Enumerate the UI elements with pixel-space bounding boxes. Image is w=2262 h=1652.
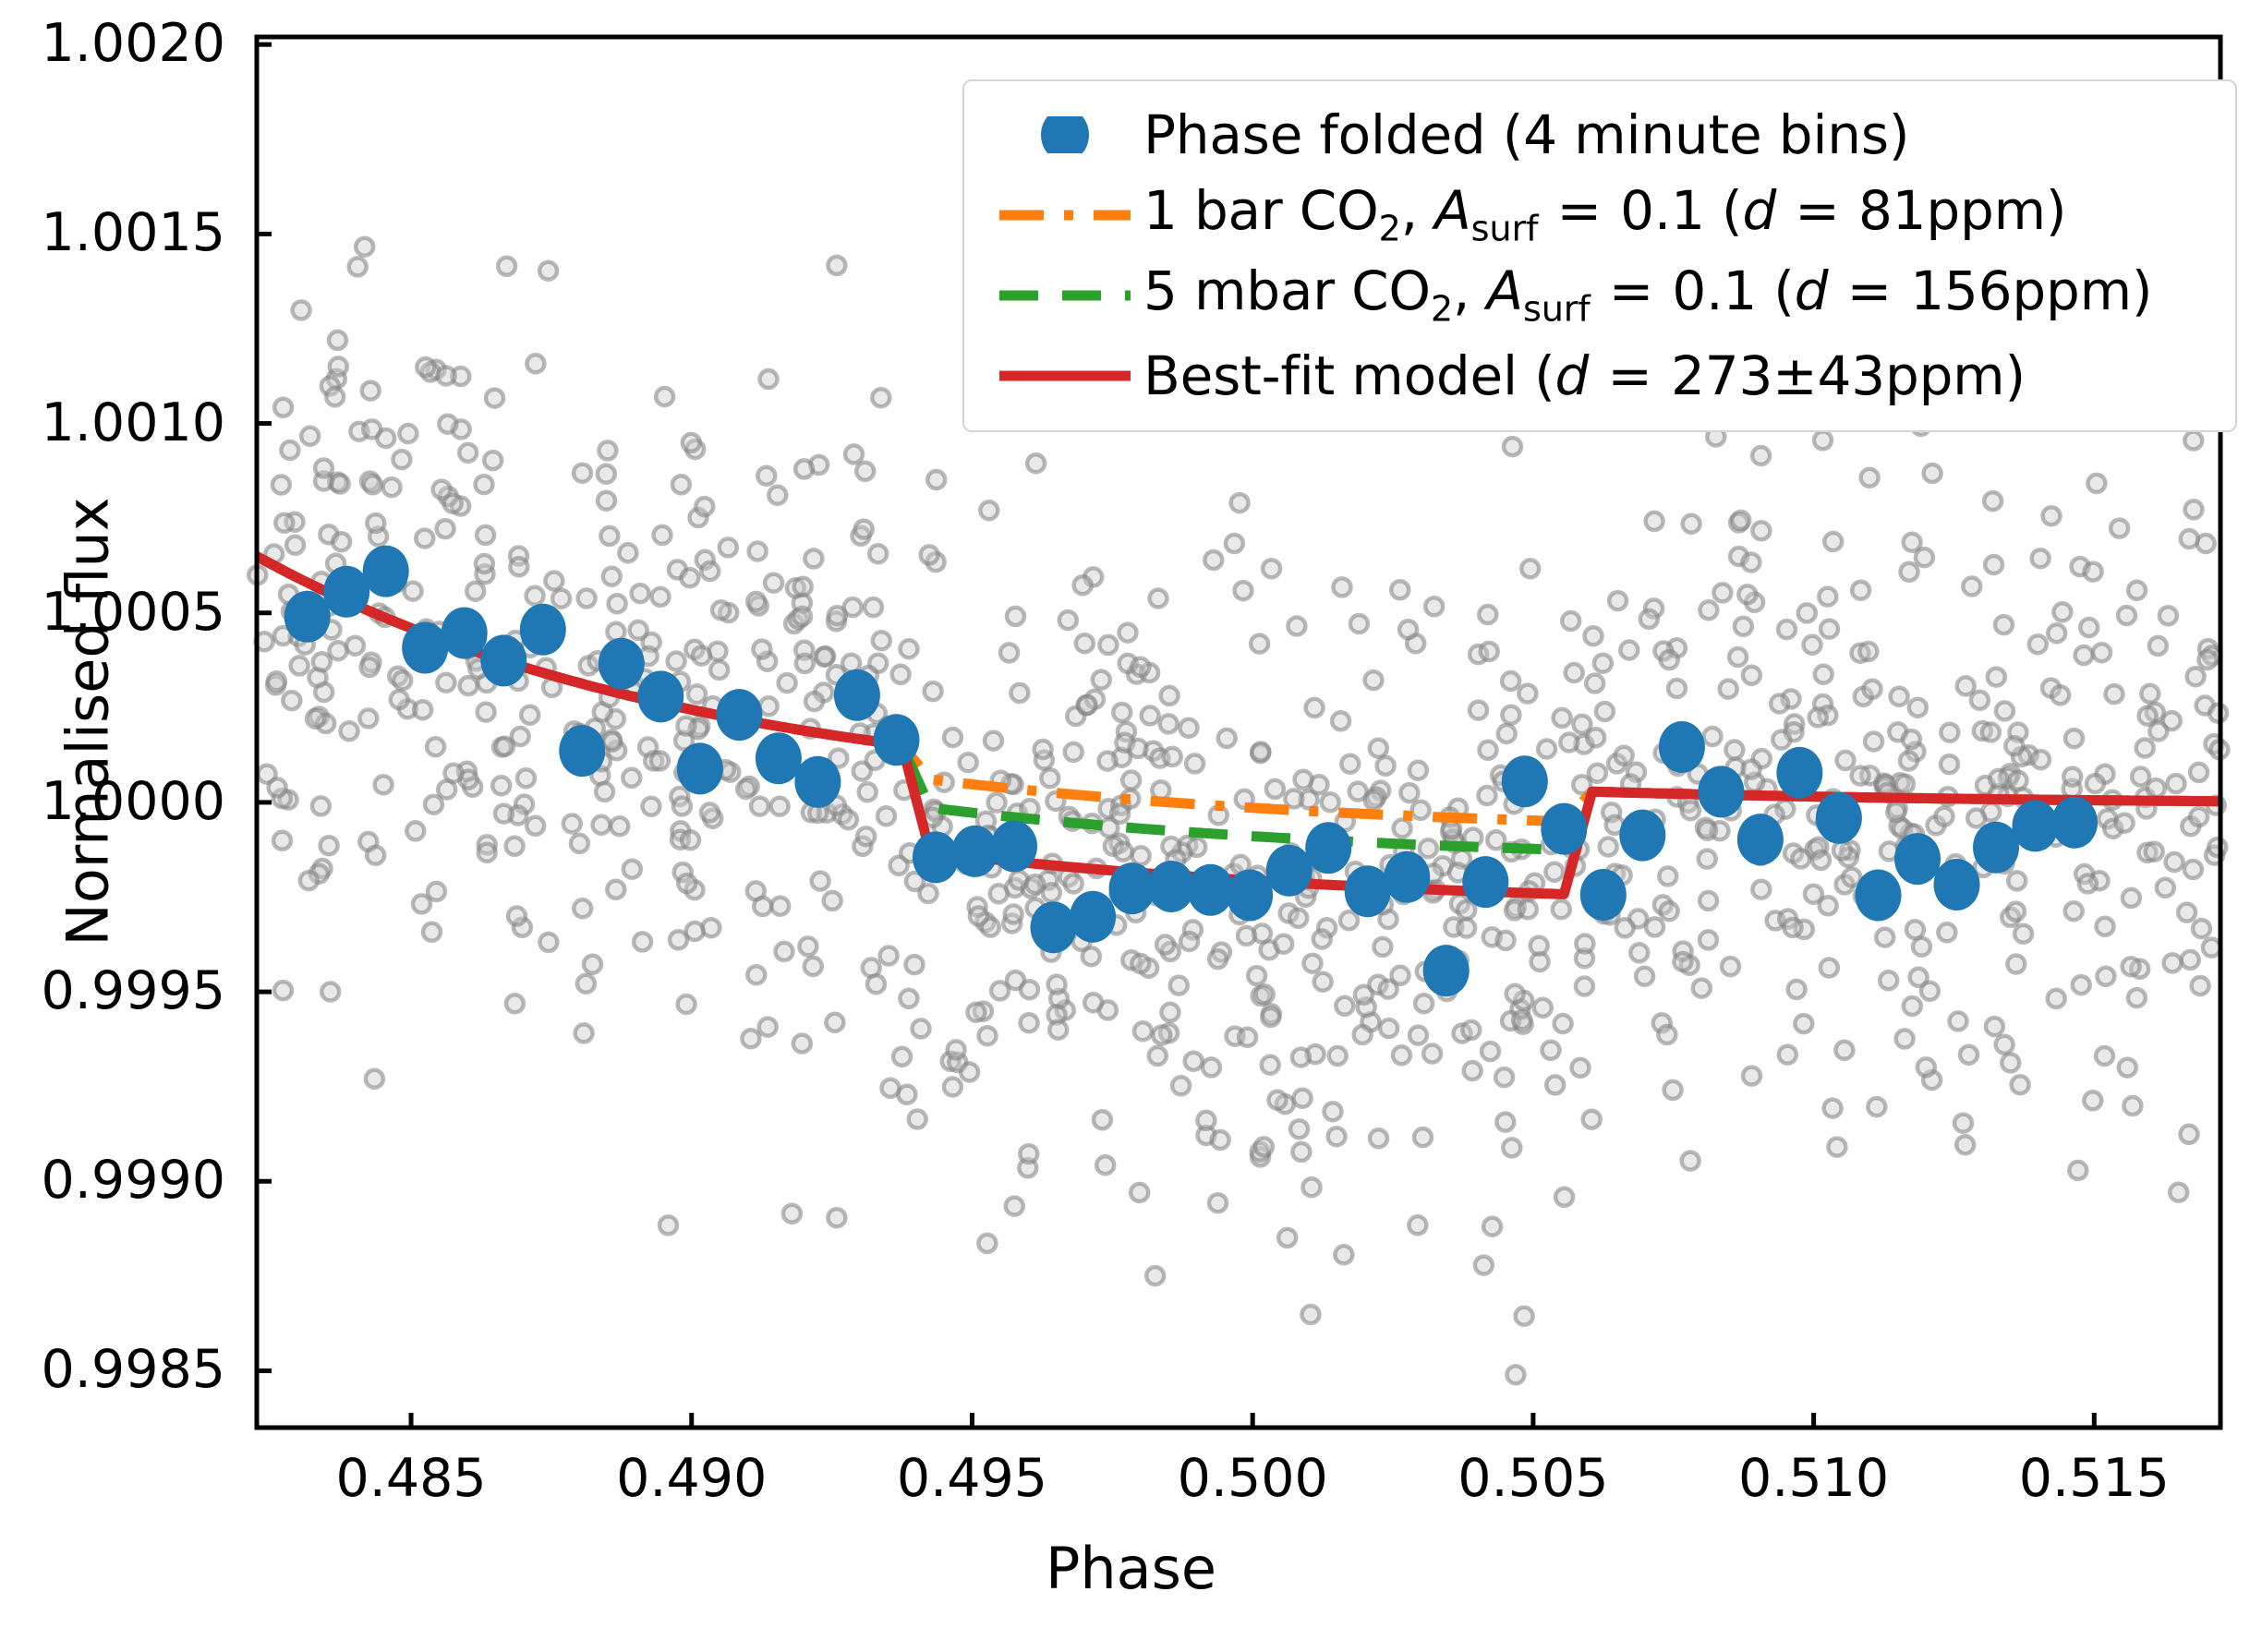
binned-data-point xyxy=(756,732,802,784)
raw-data-point xyxy=(1149,1047,1167,1065)
raw-data-point xyxy=(1502,706,1519,724)
raw-data-point xyxy=(737,780,755,798)
binned-data-point xyxy=(284,591,331,643)
raw-data-point xyxy=(1294,1090,1312,1107)
raw-data-point xyxy=(478,844,496,862)
raw-data-point xyxy=(1328,1127,1346,1145)
raw-data-point xyxy=(272,476,290,494)
raw-data-point xyxy=(1682,1152,1700,1170)
raw-data-point xyxy=(1616,919,1634,936)
binned-data-point xyxy=(913,831,959,883)
raw-data-point xyxy=(1065,743,1083,761)
raw-data-point xyxy=(1887,803,1905,821)
raw-data-point xyxy=(1496,1114,1514,1131)
raw-data-point xyxy=(478,704,495,721)
raw-data-point xyxy=(1099,753,1117,770)
raw-data-point xyxy=(1336,997,1353,1015)
raw-data-point xyxy=(1566,664,1583,681)
raw-data-point xyxy=(1738,585,1756,603)
raw-data-point xyxy=(2012,1076,2029,1093)
legend-entry: Best-fit model (d = 273±43ppm) xyxy=(986,335,2213,416)
binned-data-point xyxy=(1619,810,1665,862)
raw-data-point xyxy=(1562,612,1579,630)
raw-data-point xyxy=(1996,702,2014,719)
y-axis-label-text: Normalised flux xyxy=(54,497,122,946)
raw-data-point xyxy=(1788,981,1806,998)
raw-data-point xyxy=(771,898,789,915)
raw-data-point xyxy=(1266,780,1284,798)
raw-data-point xyxy=(1006,1198,1023,1215)
raw-data-point xyxy=(362,382,380,400)
raw-data-point xyxy=(783,1205,801,1223)
raw-data-point xyxy=(359,709,377,727)
raw-data-point xyxy=(1896,776,1914,793)
raw-data-point xyxy=(1674,953,1691,971)
raw-data-point xyxy=(2085,563,2102,581)
raw-data-point xyxy=(283,692,300,709)
raw-data-point xyxy=(1470,702,1487,719)
legend-label: 5 mbar CO2, Asurf = 0.1 (d = 156ppm) xyxy=(1143,259,2152,331)
raw-data-point xyxy=(1020,1145,1037,1163)
raw-data-point xyxy=(1409,1027,1427,1044)
raw-data-point xyxy=(584,956,601,973)
raw-data-point xyxy=(274,399,292,416)
raw-data-point xyxy=(329,332,346,349)
raw-data-point xyxy=(1010,684,1028,702)
raw-data-point xyxy=(970,908,987,925)
raw-data-point xyxy=(414,701,431,718)
raw-data-point xyxy=(2106,685,2123,703)
raw-data-point xyxy=(1292,1143,1310,1161)
raw-data-point xyxy=(1161,687,1179,705)
raw-data-point xyxy=(979,1027,997,1044)
raw-data-point xyxy=(1814,431,1832,449)
raw-data-point xyxy=(1263,560,1280,577)
raw-data-point xyxy=(1049,1021,1067,1039)
raw-data-point xyxy=(349,258,367,275)
raw-data-point xyxy=(2146,843,2163,861)
binned-data-point xyxy=(794,756,841,808)
raw-data-point xyxy=(2182,951,2199,969)
raw-data-point xyxy=(476,476,493,493)
raw-data-point xyxy=(944,729,962,746)
x-tick-label: 0.495 xyxy=(824,1448,1119,1509)
raw-data-point xyxy=(417,358,434,376)
raw-data-point xyxy=(2164,954,2182,971)
raw-data-point xyxy=(2097,918,2114,935)
raw-data-point xyxy=(681,569,698,586)
raw-data-point xyxy=(2008,872,2026,889)
raw-data-point xyxy=(2032,549,2050,567)
raw-data-point xyxy=(393,451,410,468)
binned-data-point xyxy=(1345,865,1391,917)
raw-data-point xyxy=(828,257,845,274)
raw-data-point xyxy=(693,647,710,665)
raw-data-point xyxy=(603,568,621,585)
raw-data-point xyxy=(539,262,557,280)
raw-data-point xyxy=(1971,692,1989,709)
legend-key xyxy=(986,197,1143,234)
raw-data-point xyxy=(2048,624,2065,642)
raw-data-point xyxy=(1170,977,1188,995)
raw-data-point xyxy=(2190,808,2208,826)
raw-data-point xyxy=(1021,1014,1038,1031)
raw-data-point xyxy=(2119,1059,2136,1077)
raw-data-point xyxy=(855,521,873,538)
raw-data-point xyxy=(1186,754,1204,772)
raw-data-point xyxy=(1203,1058,1220,1076)
raw-data-point xyxy=(2190,764,2208,781)
raw-data-point xyxy=(1256,985,1274,1003)
raw-data-point xyxy=(804,549,822,567)
raw-data-point xyxy=(1156,936,1174,954)
dashed-line-key xyxy=(996,277,1134,314)
raw-data-point xyxy=(779,674,796,692)
raw-data-point xyxy=(2157,879,2174,897)
raw-data-point xyxy=(399,425,417,442)
legend-key xyxy=(986,116,1143,153)
raw-data-point xyxy=(672,476,690,493)
raw-data-point xyxy=(1576,935,1593,953)
raw-data-point xyxy=(1824,1100,1842,1117)
raw-data-point xyxy=(2170,1184,2187,1201)
raw-data-point xyxy=(2075,646,2093,664)
raw-data-point xyxy=(571,835,588,852)
raw-data-point xyxy=(643,798,660,815)
raw-data-point xyxy=(1909,699,1927,717)
raw-data-point xyxy=(574,899,591,917)
raw-data-point xyxy=(439,416,456,433)
raw-data-point xyxy=(1115,843,1132,861)
binned-data-point xyxy=(1031,901,1077,953)
raw-data-point xyxy=(710,661,728,679)
raw-data-point xyxy=(652,588,670,606)
raw-data-point xyxy=(978,1235,996,1252)
raw-data-point xyxy=(1828,1139,1845,1156)
raw-data-point xyxy=(742,1030,759,1047)
raw-data-point xyxy=(1180,933,1198,950)
raw-data-point xyxy=(1399,621,1417,638)
binned-data-point xyxy=(1188,864,1234,916)
raw-data-point xyxy=(754,898,771,915)
raw-data-point xyxy=(712,601,730,619)
legend-label: Best-fit model (d = 273±43ppm) xyxy=(1143,344,2026,407)
raw-data-point xyxy=(1248,967,1265,984)
raw-data-point xyxy=(1475,1257,1493,1274)
raw-data-point xyxy=(321,983,339,1001)
binned-data-point xyxy=(1580,869,1627,921)
raw-data-point xyxy=(678,995,696,1013)
raw-data-point xyxy=(1982,724,2000,742)
raw-data-point xyxy=(1093,671,1110,689)
binned-data-point xyxy=(1148,861,1194,912)
y-axis-label: Normalised flux xyxy=(54,353,122,1091)
raw-data-point xyxy=(1792,850,1809,868)
binned-data-point xyxy=(1737,814,1784,865)
raw-data-point xyxy=(768,487,786,504)
raw-data-point xyxy=(609,595,626,612)
raw-data-point xyxy=(484,452,502,469)
raw-data-point xyxy=(1742,554,1760,572)
raw-data-point xyxy=(1725,742,1743,759)
raw-data-point xyxy=(1482,1043,1499,1060)
binned-data-point xyxy=(520,604,566,656)
raw-data-point xyxy=(1074,576,1092,594)
raw-data-point xyxy=(1859,643,1877,660)
raw-data-point xyxy=(2136,740,2154,757)
raw-data-point xyxy=(757,467,775,485)
raw-data-point xyxy=(659,1216,677,1234)
raw-data-point xyxy=(654,526,671,544)
raw-data-point xyxy=(578,589,596,607)
raw-data-point xyxy=(1554,1015,1572,1032)
raw-data-point xyxy=(1819,588,1836,606)
raw-data-point xyxy=(2053,603,2071,621)
y-tick-label: 1.0020 xyxy=(0,13,225,74)
raw-data-point xyxy=(1700,931,1717,948)
raw-data-point xyxy=(1218,730,1236,747)
raw-data-point xyxy=(925,682,942,700)
raw-data-point xyxy=(1409,762,1427,779)
raw-data-point xyxy=(526,817,544,835)
raw-data-point xyxy=(346,637,364,655)
raw-data-point xyxy=(2051,686,2069,704)
raw-data-point xyxy=(1146,1267,1164,1284)
raw-data-point xyxy=(598,465,615,483)
legend-key xyxy=(986,277,1143,314)
raw-data-point xyxy=(1251,635,1268,653)
raw-data-point xyxy=(1304,955,1322,972)
raw-data-point xyxy=(872,389,889,406)
raw-data-point xyxy=(2079,874,2097,892)
raw-data-point xyxy=(869,545,887,562)
raw-data-point xyxy=(1295,771,1312,789)
raw-data-point xyxy=(1180,719,1198,737)
raw-data-point xyxy=(1306,699,1324,717)
raw-data-point xyxy=(273,832,291,850)
raw-data-point xyxy=(1812,851,1830,869)
raw-data-point xyxy=(1668,680,1686,697)
legend-entry: 1 bar CO2, Asurf = 0.1 (d = 81ppm) xyxy=(986,175,2213,255)
raw-data-point xyxy=(2014,925,2032,943)
raw-data-point xyxy=(596,783,613,801)
binned-data-point xyxy=(834,669,880,721)
raw-data-point xyxy=(1936,808,1954,826)
raw-data-point xyxy=(1864,681,1881,698)
raw-data-point xyxy=(944,1079,962,1096)
raw-data-point xyxy=(619,544,636,561)
raw-data-point xyxy=(1835,1042,1853,1059)
raw-data-point xyxy=(599,441,616,459)
raw-data-point xyxy=(367,514,384,532)
raw-data-point xyxy=(1904,997,1921,1015)
raw-data-point xyxy=(301,428,319,445)
raw-data-point xyxy=(1784,919,1802,936)
raw-data-point xyxy=(1837,752,1855,769)
raw-data-point xyxy=(682,831,699,849)
raw-data-point xyxy=(880,947,898,965)
raw-data-point xyxy=(701,562,719,580)
raw-data-point xyxy=(1735,618,1752,635)
binned-data-point xyxy=(559,725,605,777)
raw-data-point xyxy=(1941,755,1958,773)
raw-data-point xyxy=(1891,688,1908,705)
raw-data-point xyxy=(2199,651,2217,669)
raw-data-point xyxy=(1479,787,1496,804)
raw-data-point xyxy=(1661,902,1678,920)
raw-data-point xyxy=(890,857,908,874)
raw-data-point xyxy=(1986,1018,2003,1035)
raw-data-point xyxy=(1752,447,1770,464)
raw-data-point xyxy=(492,777,510,794)
raw-data-point xyxy=(1996,1036,2014,1054)
raw-data-point xyxy=(1906,921,1924,938)
raw-data-point xyxy=(1094,1111,1111,1128)
raw-data-point xyxy=(1380,1019,1397,1037)
raw-data-point xyxy=(1704,728,1722,745)
raw-data-point xyxy=(332,476,349,493)
raw-data-point xyxy=(1504,438,1521,455)
raw-data-point xyxy=(804,958,822,975)
binned-data-point xyxy=(1384,851,1430,903)
raw-data-point xyxy=(574,464,591,482)
raw-data-point xyxy=(1209,950,1227,968)
raw-data-point xyxy=(799,937,816,955)
raw-data-point xyxy=(630,621,647,639)
raw-data-point xyxy=(927,471,945,488)
raw-data-point xyxy=(1370,740,1387,757)
raw-data-point xyxy=(1503,1139,1520,1156)
binned-data-point xyxy=(1698,766,1744,817)
raw-data-point xyxy=(826,1014,843,1031)
raw-data-point xyxy=(2149,637,2167,655)
raw-data-point xyxy=(1099,636,1117,654)
raw-data-point xyxy=(1479,606,1496,623)
raw-data-point xyxy=(753,641,770,658)
raw-data-point xyxy=(2118,607,2135,624)
raw-data-point xyxy=(1289,910,1307,927)
raw-data-point xyxy=(2029,635,2047,653)
raw-data-point xyxy=(2187,668,2205,685)
raw-data-point xyxy=(865,598,882,616)
raw-data-point xyxy=(1852,582,1869,599)
raw-data-point xyxy=(1239,1029,1256,1046)
raw-data-point xyxy=(805,693,823,710)
raw-data-point xyxy=(575,1024,593,1042)
raw-data-point xyxy=(281,441,298,459)
raw-data-point xyxy=(341,722,358,740)
raw-data-point xyxy=(393,671,411,689)
raw-data-point xyxy=(1820,959,1838,977)
raw-data-point xyxy=(2203,939,2220,957)
raw-data-point xyxy=(985,732,1002,750)
raw-data-point xyxy=(1576,978,1593,995)
raw-data-point xyxy=(607,881,624,898)
raw-data-point xyxy=(1880,971,1897,989)
raw-data-point xyxy=(1954,1115,1972,1132)
raw-data-point xyxy=(1545,863,1563,881)
binned-data-point xyxy=(2051,797,2098,849)
raw-data-point xyxy=(375,776,393,793)
raw-data-point xyxy=(1153,1026,1170,1043)
raw-data-point xyxy=(1530,937,1548,955)
binned-data-point xyxy=(599,638,645,690)
raw-data-point xyxy=(882,1079,900,1097)
raw-data-point xyxy=(1373,938,1391,956)
raw-data-point xyxy=(840,811,857,828)
raw-data-point xyxy=(668,653,685,670)
raw-data-point xyxy=(1620,642,1638,659)
legend-box: Phase folded (4 minute bins)1 bar CO2, A… xyxy=(962,79,2237,432)
raw-data-point xyxy=(623,769,640,787)
raw-data-point xyxy=(1005,906,1022,923)
binned-data-point xyxy=(1894,833,1941,885)
raw-data-point xyxy=(1995,616,2013,633)
raw-data-point xyxy=(1560,734,1578,752)
raw-data-point xyxy=(1415,995,1433,1012)
raw-data-point xyxy=(1209,1194,1227,1212)
raw-data-point xyxy=(2139,707,2157,725)
raw-data-point xyxy=(1988,669,2005,686)
raw-data-point xyxy=(1659,867,1676,885)
raw-data-point xyxy=(1594,655,1612,672)
solid-line-key xyxy=(996,357,1134,394)
raw-data-point xyxy=(1722,958,1739,975)
raw-data-point xyxy=(1065,874,1083,892)
raw-data-point xyxy=(433,481,451,499)
raw-data-point xyxy=(793,608,811,625)
raw-data-point xyxy=(1131,955,1149,972)
raw-data-point xyxy=(2065,902,2083,920)
raw-data-point xyxy=(794,578,812,596)
raw-data-point xyxy=(1519,900,1537,918)
raw-data-point xyxy=(1425,597,1443,615)
raw-data-point xyxy=(437,674,454,692)
binned-data-point xyxy=(323,566,369,618)
raw-data-point xyxy=(1288,618,1305,635)
raw-data-point xyxy=(1341,755,1359,773)
raw-data-point xyxy=(600,527,618,545)
raw-data-point xyxy=(466,583,484,600)
raw-data-point xyxy=(1967,810,1985,827)
raw-data-point xyxy=(765,574,782,592)
raw-data-point xyxy=(1142,706,1159,724)
raw-data-point xyxy=(2116,814,2134,832)
raw-data-point xyxy=(1699,850,1716,868)
raw-data-point xyxy=(406,822,424,839)
raw-data-point xyxy=(1394,820,1411,838)
raw-data-point xyxy=(2084,1091,2101,1109)
raw-data-point xyxy=(795,460,813,477)
raw-data-point xyxy=(793,1035,811,1053)
raw-data-point xyxy=(1771,695,1788,713)
raw-data-point xyxy=(2123,958,2140,975)
raw-data-point xyxy=(747,593,765,610)
raw-data-point xyxy=(333,533,350,550)
raw-data-point xyxy=(1255,1138,1273,1155)
raw-data-point xyxy=(460,677,478,694)
raw-data-point xyxy=(1462,1021,1480,1039)
raw-data-point xyxy=(906,956,924,973)
raw-data-point xyxy=(900,990,917,1007)
raw-data-point xyxy=(1278,1229,1296,1247)
binned-data-point xyxy=(874,714,920,766)
raw-data-point xyxy=(1833,841,1851,859)
x-tick-label: 0.515 xyxy=(1946,1448,2242,1509)
binned-data-point xyxy=(2013,800,2059,851)
y-tick-label: 1.0015 xyxy=(0,202,225,263)
raw-data-point xyxy=(1172,1077,1190,1094)
